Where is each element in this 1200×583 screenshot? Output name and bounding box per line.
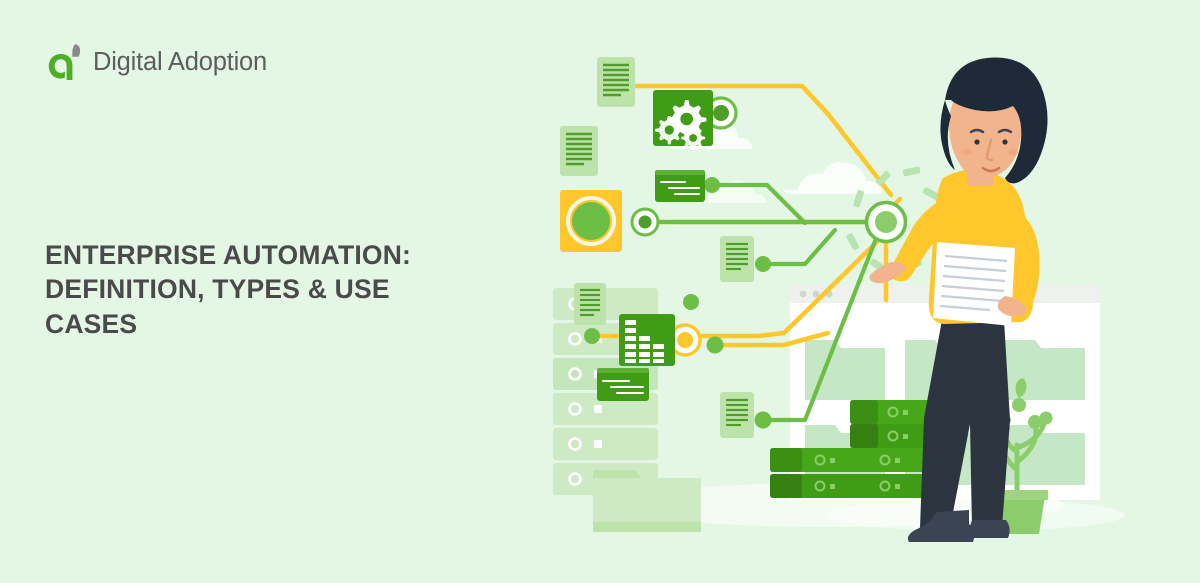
node-dot-3 [704,177,720,193]
yellow-circle-tile [560,190,622,252]
brand-name: Digital Adoption [93,48,267,77]
person-document [933,242,1015,326]
code-tile-upper [655,170,705,202]
document-icon-left [560,126,598,176]
spreadsheet-tile [619,314,675,366]
node-dot-4 [755,256,771,272]
node-dot-2 [584,328,600,344]
brand-logo[interactable]: Digital Adoption [46,42,267,82]
document-icon-mid [720,236,754,282]
ring-node-yellow-tile [631,208,659,236]
banner-root: Digital Adoption Enterprise Automation: … [0,0,1200,583]
node-dot-7 [755,412,772,429]
node-dot-5 [707,337,724,354]
gears-tile [653,90,713,150]
folder-foreground [593,470,701,532]
document-icon-top [597,57,635,107]
document-icon-rack [574,283,606,325]
page-title: Enterprise Automation: Definition, Types… [45,238,475,341]
browser-dot-1 [800,291,807,298]
person-shoe-right [969,520,1009,538]
enterprise-automation-illustration [505,0,1200,583]
document-icon-bottom [720,392,754,438]
node-dot-6 [683,294,699,310]
logo-letter-a-icon [46,42,84,82]
code-tile-lower [597,368,649,401]
